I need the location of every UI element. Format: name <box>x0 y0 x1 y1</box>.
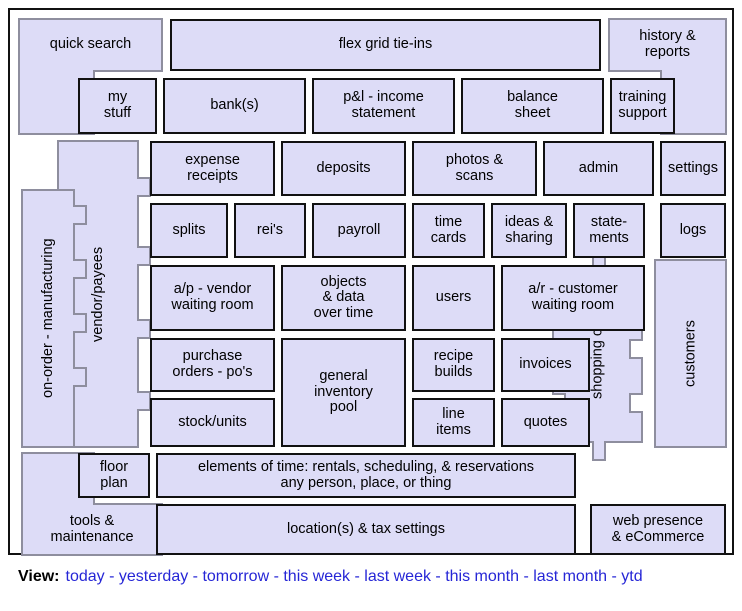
group-label-quick-search[interactable]: quick search <box>19 19 162 71</box>
group-label-customers[interactable]: customers <box>655 260 726 447</box>
tile-ideas-sharing[interactable]: ideas & sharing <box>491 203 567 258</box>
tile-invoices[interactable]: invoices <box>501 338 590 392</box>
tile-quotes[interactable]: quotes <box>501 398 590 447</box>
tile-purchase-orders[interactable]: purchase orders - po's <box>150 338 275 392</box>
tile-expense-receipts[interactable]: expense receipts <box>150 141 275 196</box>
view-link-separator: - <box>269 568 283 585</box>
view-link-today[interactable]: today <box>66 568 105 585</box>
tile-deposits[interactable]: deposits <box>281 141 406 196</box>
tile-ar-customer-waiting-room[interactable]: a/r - customer waiting room <box>501 265 645 331</box>
tile-users[interactable]: users <box>412 265 495 331</box>
tile-web-presence-ecommerce[interactable]: web presence & eCommerce <box>590 504 726 555</box>
view-link-separator: - <box>188 568 202 585</box>
tile-stock-units[interactable]: stock/units <box>150 398 275 447</box>
view-link-ytd[interactable]: ytd <box>621 568 642 585</box>
tile-my-stuff[interactable]: my stuff <box>78 78 157 134</box>
tile-elements-of-time[interactable]: elements of time: rentals, scheduling, &… <box>156 453 576 498</box>
tile-statements[interactable]: state- ments <box>573 203 645 258</box>
tile-line-items[interactable]: line items <box>412 398 495 447</box>
tile-photos-scans[interactable]: photos & scans <box>412 141 537 196</box>
tile-pl-income-statement[interactable]: p&l - income statement <box>312 78 455 134</box>
tile-admin[interactable]: admin <box>543 141 654 196</box>
diagram-frame: quick search history & reports vendor/pa… <box>8 8 734 555</box>
tile-splits[interactable]: splits <box>150 203 228 258</box>
tile-logs[interactable]: logs <box>660 203 726 258</box>
tile-ap-vendor-waiting-room[interactable]: a/p - vendor waiting room <box>150 265 275 331</box>
view-links: today - yesterday - tomorrow - this week… <box>66 568 643 585</box>
view-link-last-week[interactable]: last week <box>364 568 431 585</box>
tile-payroll[interactable]: payroll <box>312 203 406 258</box>
tile-flex-grid-tie-ins[interactable]: flex grid tie-ins <box>170 19 601 71</box>
group-label-on-order-manufacturing[interactable]: on-order - manufacturing <box>22 190 74 447</box>
view-link-last-month[interactable]: last month <box>533 568 607 585</box>
group-label-tools-maintenance[interactable]: tools & maintenance <box>22 504 162 555</box>
view-link-separator: - <box>105 568 119 585</box>
tile-time-cards[interactable]: time cards <box>412 203 485 258</box>
view-filter-bar: View:today - yesterday - tomorrow - this… <box>18 568 728 586</box>
view-link-yesterday[interactable]: yesterday <box>119 568 188 585</box>
tile-floor-plan[interactable]: floor plan <box>78 453 150 498</box>
view-link-this-week[interactable]: this week <box>283 568 350 585</box>
view-link-separator: - <box>431 568 445 585</box>
view-link-tomorrow[interactable]: tomorrow <box>202 568 269 585</box>
view-link-separator: - <box>519 568 533 585</box>
tile-locations-tax-settings[interactable]: location(s) & tax settings <box>156 504 576 555</box>
tile-banks[interactable]: bank(s) <box>163 78 306 134</box>
view-link-this-month[interactable]: this month <box>445 568 519 585</box>
tile-objects-data-over-time[interactable]: objects & data over time <box>281 265 406 331</box>
view-link-separator: - <box>350 568 364 585</box>
view-link-separator: - <box>607 568 621 585</box>
group-label-history-reports[interactable]: history & reports <box>609 19 726 71</box>
tile-reis[interactable]: rei's <box>234 203 306 258</box>
view-label: View: <box>18 568 60 585</box>
tile-training-support[interactable]: training support <box>610 78 675 134</box>
tile-balance-sheet[interactable]: balance sheet <box>461 78 604 134</box>
tile-general-inventory-pool[interactable]: general inventory pool <box>281 338 406 447</box>
tile-recipe-builds[interactable]: recipe builds <box>412 338 495 392</box>
site-map-diagram: quick search history & reports vendor/pa… <box>0 0 742 611</box>
tile-settings[interactable]: settings <box>660 141 726 196</box>
